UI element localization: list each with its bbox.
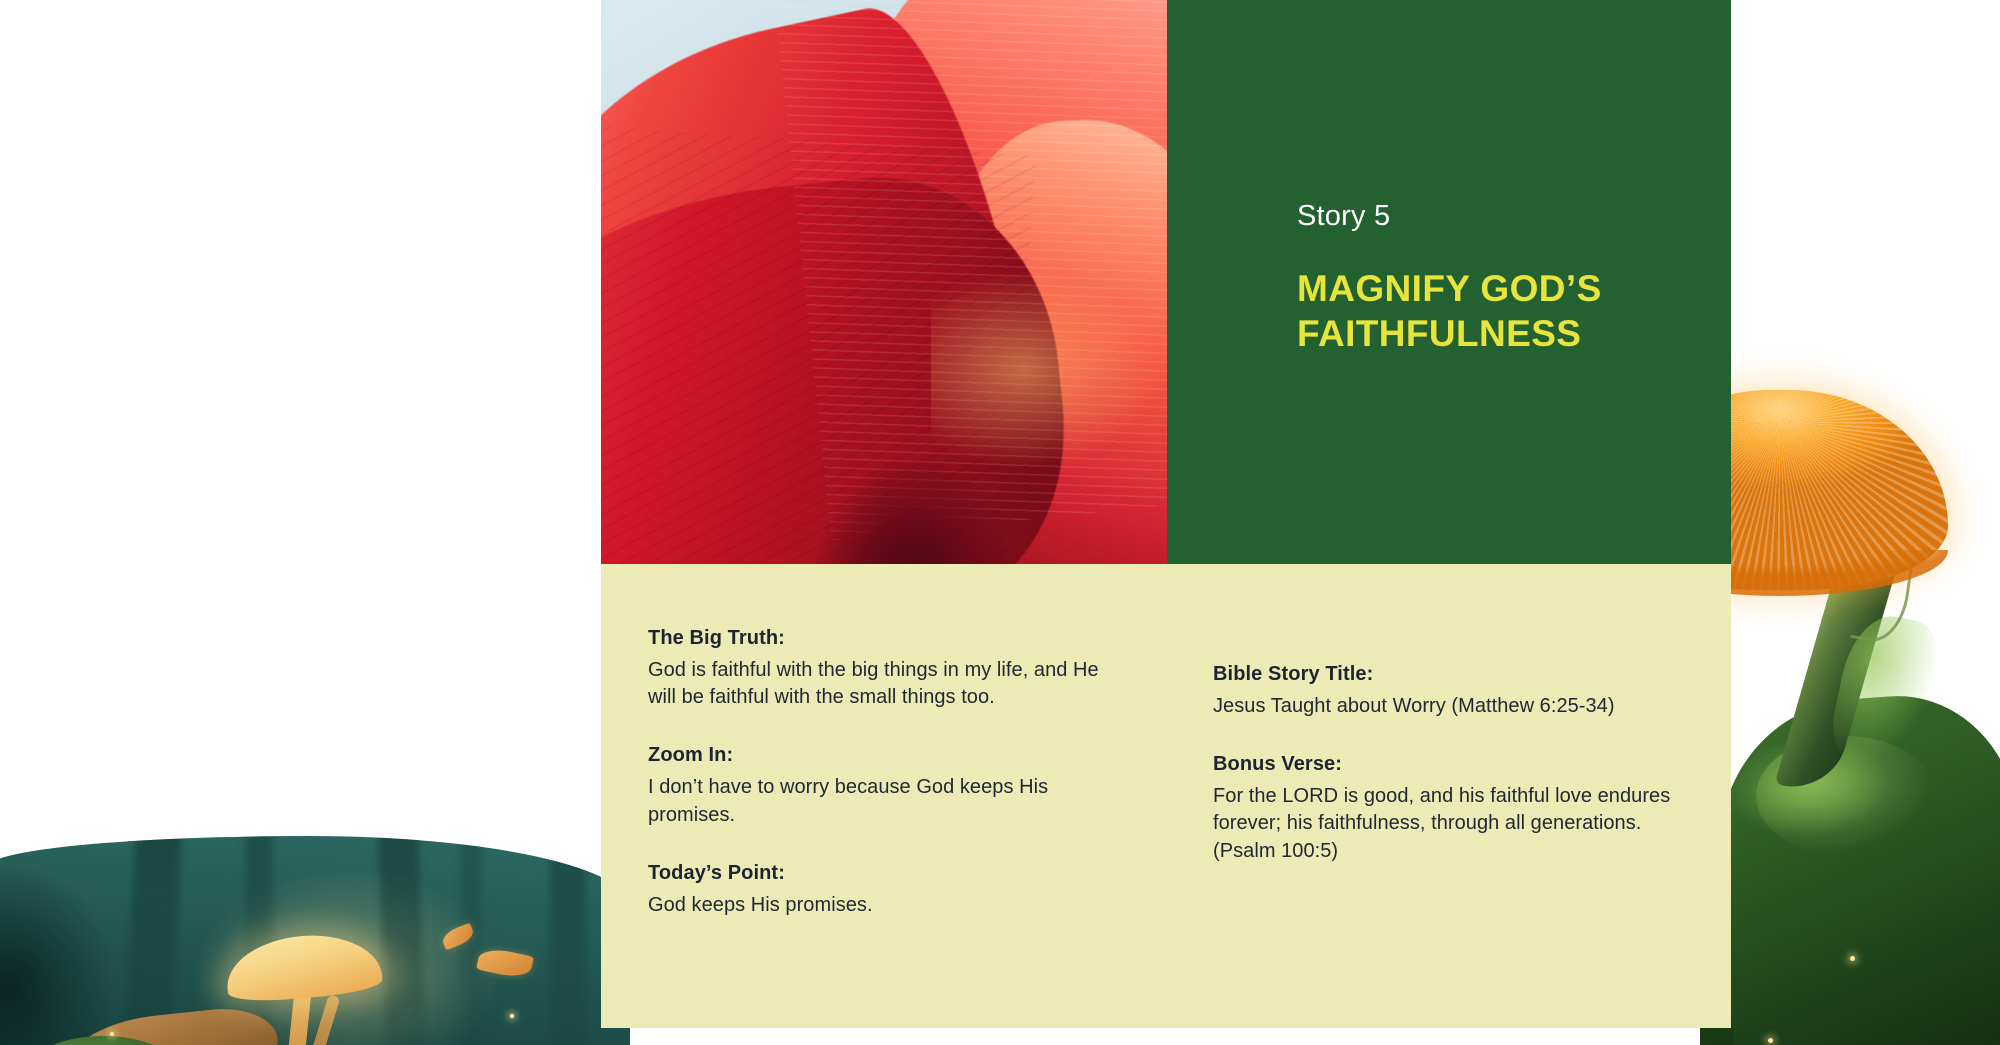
left-text-column: The Big Truth: God is faithful with the …	[601, 564, 1213, 1028]
story-card: Story 5 MAGNIFY GOD’S FAITHFULNESS The B…	[601, 0, 1731, 1028]
tree-trunk	[550, 836, 586, 1045]
firefly-spark-icon	[1768, 1038, 1773, 1043]
todays-point-block: Today’s Point: God keeps His promises.	[648, 859, 1173, 919]
story-number-label: Story 5	[1297, 200, 1691, 233]
bible-story-title-label: Bible Story Title:	[1213, 660, 1671, 689]
bible-story-title-text: Jesus Taught about Worry (Matthew 6:25-3…	[1213, 693, 1671, 720]
big-truth-block: The Big Truth: God is faithful with the …	[648, 624, 1173, 711]
bible-story-title-block: Bible Story Title: Jesus Taught about Wo…	[1213, 660, 1671, 720]
firefly-spark-icon	[110, 1032, 114, 1036]
big-truth-label: The Big Truth:	[648, 624, 1173, 653]
card-body: The Big Truth: God is faithful with the …	[601, 564, 1731, 1028]
zoom-in-text: I don’t have to worry because God keeps …	[648, 774, 1128, 828]
zoom-in-label: Zoom In:	[648, 741, 1173, 770]
petal-glow	[931, 270, 1161, 470]
title-panel-inner: Story 5 MAGNIFY GOD’S FAITHFULNESS	[1297, 200, 1691, 356]
story-title: MAGNIFY GOD’S FAITHFULNESS	[1297, 266, 1691, 356]
bonus-verse-block: Bonus Verse: For the LORD is good, and h…	[1213, 750, 1671, 865]
todays-point-label: Today’s Point:	[648, 859, 1173, 888]
tree-trunk	[378, 836, 426, 1045]
card-header: Story 5 MAGNIFY GOD’S FAITHFULNESS	[601, 0, 1731, 564]
right-text-column: Bible Story Title: Jesus Taught about Wo…	[1213, 564, 1731, 1028]
zoom-in-block: Zoom In: I don’t have to worry because G…	[648, 741, 1173, 828]
hero-flower-photo	[601, 0, 1167, 564]
todays-point-text: God keeps His promises.	[648, 892, 1128, 919]
page-canvas: Story 5 MAGNIFY GOD’S FAITHFULNESS The B…	[0, 0, 2000, 1045]
bonus-verse-label: Bonus Verse:	[1213, 750, 1671, 779]
big-truth-text: God is faithful with the big things in m…	[648, 657, 1128, 711]
forest-shadow	[0, 836, 160, 1045]
title-panel: Story 5 MAGNIFY GOD’S FAITHFULNESS	[1167, 0, 1731, 564]
firefly-spark-icon	[1850, 956, 1855, 961]
bonus-verse-text: For the LORD is good, and his faithful l…	[1213, 783, 1671, 865]
firefly-spark-icon	[510, 1014, 514, 1018]
forest-scene-illustration	[0, 836, 630, 1045]
